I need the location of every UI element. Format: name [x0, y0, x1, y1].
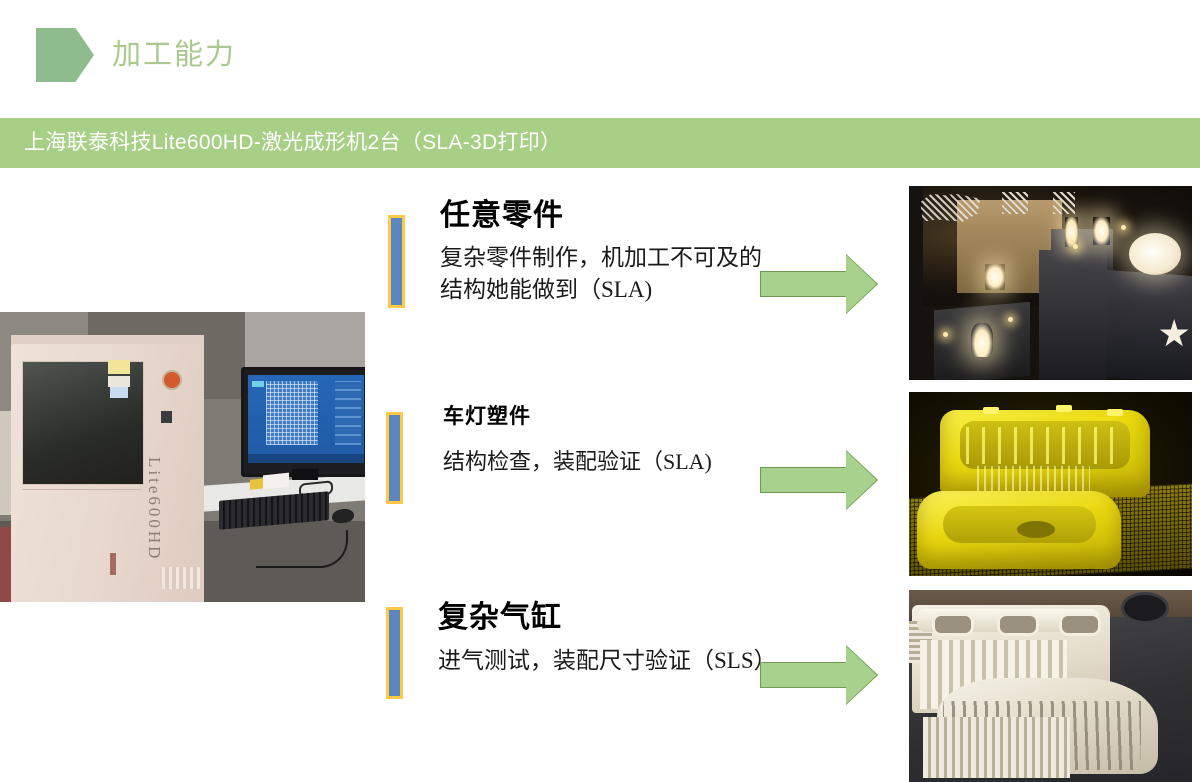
photo-manifold-port [932, 613, 974, 636]
feature-text-block: 复杂气缸 进气测试，装配尺寸验证（SLS） [438, 598, 768, 677]
photo-manifold-port [1059, 613, 1101, 636]
feature-title: 复杂气缸 [438, 598, 768, 638]
photo-printed-lamp-c [1065, 217, 1078, 247]
feature-description: 复杂零件制作，机加工不可及的结构她能做到（SLA) [440, 242, 770, 306]
photo-plinth-c [1107, 270, 1192, 380]
arrow-right-icon [760, 645, 878, 705]
arrow-shaft [760, 467, 848, 493]
slide-header: 加工能力 [0, 0, 1200, 108]
feature-photo [909, 186, 1192, 380]
arrow-shaft [760, 271, 848, 297]
photo-lattice-support [923, 717, 1070, 778]
photo-logo-secondary [1002, 192, 1028, 214]
feature-text-block: 车灯塑件 结构检查，装配验证（SLA) [443, 401, 712, 478]
feature-description: 结构检查，装配验证（SLA) [443, 446, 712, 478]
arrow-head [846, 450, 878, 510]
photo-manifold-port [997, 613, 1039, 636]
feature-photo [909, 590, 1192, 782]
photo-screen-tab [252, 381, 264, 387]
photo-light-dot [1008, 317, 1013, 322]
feature-description: 进气测试，装配尺寸验证（SLS） [438, 645, 768, 677]
photo-printed-lamp-a [971, 323, 993, 357]
photo-printed-lamp-d [1093, 217, 1110, 245]
photo-part-ribs-top [966, 427, 1124, 464]
photo-part-clip [983, 407, 999, 414]
arrow-right-icon [760, 450, 878, 510]
feature-photo [909, 392, 1192, 576]
photo-logo-tertiary [1053, 192, 1075, 214]
accent-bar [386, 412, 403, 504]
photo-desk-grommet [1121, 592, 1169, 624]
feature-text-block: 任意零件 复杂零件制作，机加工不可及的结构她能做到（SLA) [440, 196, 770, 306]
chevron-right-icon [36, 28, 94, 82]
arrow-shaft [760, 662, 848, 688]
arrow-head [846, 254, 878, 314]
arrow-right-icon [760, 254, 878, 314]
photo-printed-disc [1129, 233, 1181, 275]
arrow-head [846, 645, 878, 705]
photo-printed-lamp-b [985, 264, 1005, 290]
feature-title: 车灯塑件 [443, 401, 712, 433]
photo-part-hole [1017, 521, 1055, 538]
page-title: 加工能力 [112, 33, 236, 77]
photo-part-clip [1107, 409, 1123, 416]
section-banner-title: 上海联泰科技Lite600HD-激光成形机2台（SLA-3D打印） [24, 118, 561, 168]
photo-plinth-b [1039, 250, 1107, 380]
section-banner: 上海联泰科技Lite600HD-激光成形机2台（SLA-3D打印） [0, 118, 1200, 168]
photo-part-clip [1056, 405, 1072, 412]
accent-bar [386, 607, 403, 699]
feature-title: 任意零件 [440, 196, 770, 236]
accent-bar [388, 215, 405, 308]
